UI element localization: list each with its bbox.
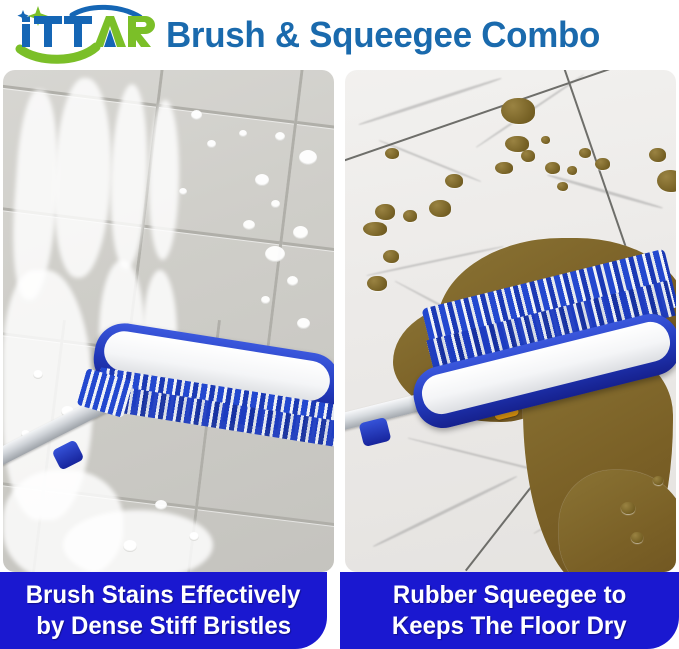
logo-svg	[12, 3, 160, 65]
header-banner: Brush & Squeegee Combo	[0, 0, 679, 68]
liquid-droplet	[541, 136, 550, 144]
liquid-droplet	[363, 222, 387, 236]
liquid-droplet	[375, 204, 395, 220]
brush-squeegee-tool	[345, 370, 676, 550]
soap-bubble	[243, 220, 255, 230]
caption-left-line2: by Dense Stiff Bristles	[36, 611, 291, 642]
soap-bubble	[265, 246, 285, 262]
logo-letter-r	[128, 16, 155, 47]
liquid-droplet	[567, 166, 577, 175]
caption-bar-right: Rubber Squeegee to Keeps The Floor Dry	[340, 572, 679, 649]
caption-right-line2: Keeps The Floor Dry	[392, 611, 627, 642]
logo-letter-t1	[34, 16, 62, 47]
liquid-droplet	[385, 148, 399, 159]
caption-left-line1: Brush Stains Effectively	[26, 580, 301, 611]
product-image-right	[345, 70, 676, 572]
soap-bubble	[293, 226, 308, 239]
brush-squeegee-tool	[83, 360, 334, 572]
liquid-droplet	[495, 162, 513, 174]
soap-bubble	[239, 130, 247, 137]
logo-letter-a	[94, 16, 126, 47]
logo-letter-i-dot	[22, 17, 30, 23]
photo-soapy-tile-floor	[3, 70, 334, 572]
caption-bar-left: Brush Stains Effectively by Dense Stiff …	[0, 572, 327, 649]
caption-right-line1: Rubber Squeegee to	[393, 580, 626, 611]
soap-bubble	[275, 132, 285, 141]
liquid-droplet	[521, 150, 535, 162]
soap-bubble	[287, 276, 298, 286]
brand-logo	[12, 3, 160, 65]
liquid-droplet	[557, 182, 568, 191]
page-title: Brush & Squeegee Combo	[166, 14, 600, 56]
liquid-droplet	[595, 158, 610, 170]
soap-bubble	[297, 318, 310, 329]
soap-bubble	[191, 110, 202, 120]
photo-marble-floor-spill	[345, 70, 676, 572]
liquid-droplet	[445, 174, 463, 188]
liquid-droplet	[501, 98, 535, 124]
liquid-droplet	[429, 200, 451, 217]
soap-bubble	[33, 370, 43, 379]
logo-letter-i	[22, 24, 30, 47]
logo-letter-t2	[64, 16, 92, 47]
soap-bubble	[207, 140, 216, 148]
liquid-droplet	[367, 276, 387, 291]
liquid-droplet	[579, 148, 591, 158]
swoosh-icon	[20, 47, 96, 59]
product-image-left	[3, 70, 334, 572]
liquid-droplet	[649, 148, 666, 162]
tool-grip-collar	[359, 417, 392, 447]
soap-bubble	[299, 150, 317, 165]
liquid-droplet	[545, 162, 560, 174]
liquid-droplet	[403, 210, 417, 222]
soap-bubble	[271, 200, 280, 208]
soap-bubble	[179, 188, 187, 195]
soap-bubble	[261, 296, 270, 304]
arc-icon	[72, 7, 140, 17]
soap-bubble	[255, 174, 269, 186]
liquid-droplet	[383, 250, 399, 263]
